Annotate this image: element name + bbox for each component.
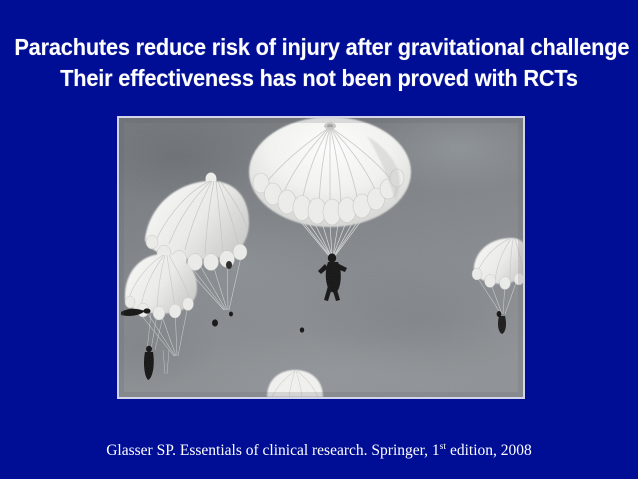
citation-author: Glasser SP. xyxy=(106,442,176,459)
parachutes-photo xyxy=(119,118,523,397)
source-citation: Glasser SP. Essentials of clinical resea… xyxy=(0,441,638,461)
citation-book: Essentials of clinical research. xyxy=(180,442,368,459)
slide-canvas: Parachutes reduce risk of injury after g… xyxy=(0,0,638,479)
title-line-primary: Parachutes reduce risk of injury after g… xyxy=(14,32,623,63)
parachutes-photo-illustration xyxy=(119,118,523,397)
citation-publisher: Springer, xyxy=(371,442,428,459)
slide-title-block: Parachutes reduce risk of injury after g… xyxy=(0,32,638,94)
title-line-secondary: Their effectiveness has not been proved … xyxy=(14,63,623,94)
photo-frame xyxy=(117,116,525,399)
citation-edition-suffix: st xyxy=(440,441,446,452)
citation-edition-word: edition, xyxy=(450,442,497,459)
citation-year: 2008 xyxy=(501,442,532,459)
citation-edition-number: 1 xyxy=(432,442,440,459)
